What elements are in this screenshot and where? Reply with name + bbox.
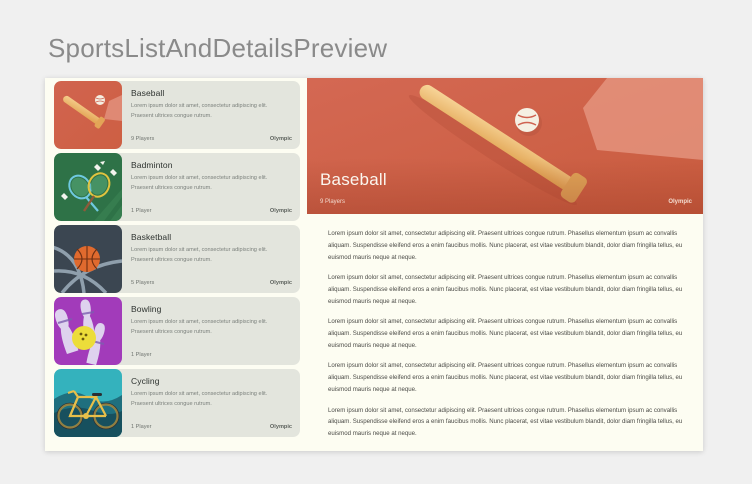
detail-paragraph: Lorem ipsum dolor sit amet, consectetur … <box>328 405 685 441</box>
detail-paragraph: Lorem ipsum dolor sit amet, consectetur … <box>328 272 685 308</box>
detail-badge: Olympic <box>668 199 692 205</box>
list-item-body: Badminton Lorem ipsum dolor sit amet, co… <box>122 153 300 221</box>
sports-preview-panel: Baseball Lorem ipsum dolor sit amet, con… <box>45 78 703 451</box>
detail-players: 9 Players <box>320 199 345 205</box>
detail-paragraph: Lorem ipsum dolor sit amet, consectetur … <box>328 228 685 264</box>
list-item-description: Lorem ipsum dolor sit amet, consectetur … <box>131 245 289 266</box>
list-item[interactable]: Basketball Lorem ipsum dolor sit amet, c… <box>54 225 300 293</box>
detail-title: Baseball <box>320 170 387 190</box>
list-item-footer: 5 Players Olympic <box>131 280 292 286</box>
badminton-rackets-icon <box>54 153 122 221</box>
list-item-players: 1 Player <box>131 208 152 214</box>
page-title: SportsListAndDetailsPreview <box>48 33 387 64</box>
list-item-body: Bowling Lorem ipsum dolor sit amet, cons… <box>122 297 300 365</box>
detail-description: Lorem ipsum dolor sit amet, consectetur … <box>307 214 703 451</box>
list-item-badge: Olympic <box>270 424 292 430</box>
list-item-players: 5 Players <box>131 280 154 286</box>
list-item-footer: 1 Player Olympic <box>131 208 292 214</box>
sport-detail-pane: Baseball 9 Players Olympic Lorem ipsum d… <box>307 78 703 451</box>
list-item-players: 1 Player <box>131 424 152 430</box>
list-item-players: 9 Players <box>131 136 154 142</box>
baseball-bat-and-ball-icon <box>54 81 122 149</box>
list-item[interactable]: Baseball Lorem ipsum dolor sit amet, con… <box>54 81 300 149</box>
detail-paragraph: Lorem ipsum dolor sit amet, consectetur … <box>328 316 685 352</box>
sports-list[interactable]: Baseball Lorem ipsum dolor sit amet, con… <box>45 78 307 451</box>
bowling-ball-and-pins-icon <box>54 297 122 365</box>
list-item-footer: 9 Players Olympic <box>131 136 292 142</box>
list-item-description: Lorem ipsum dolor sit amet, consectetur … <box>131 317 289 338</box>
list-item-body: Cycling Lorem ipsum dolor sit amet, cons… <box>122 369 300 437</box>
list-item-title: Baseball <box>131 88 291 98</box>
list-item-footer: 1 Player <box>131 352 292 358</box>
list-item-badge: Olympic <box>270 208 292 214</box>
list-item-title: Basketball <box>131 232 291 242</box>
list-item[interactable]: Bowling Lorem ipsum dolor sit amet, cons… <box>54 297 300 365</box>
basketball-icon <box>54 225 122 293</box>
bicycle-icon <box>54 369 122 437</box>
list-item-title: Badminton <box>131 160 291 170</box>
list-item-description: Lorem ipsum dolor sit amet, consectetur … <box>131 389 289 410</box>
list-item-description: Lorem ipsum dolor sit amet, consectetur … <box>131 173 289 194</box>
list-item-players: 1 Player <box>131 352 152 358</box>
list-item-badge: Olympic <box>270 136 292 142</box>
detail-hero: Baseball 9 Players Olympic <box>307 78 703 214</box>
list-item-title: Cycling <box>131 376 291 386</box>
list-item-title: Bowling <box>131 304 291 314</box>
list-item-footer: 1 Player Olympic <box>131 424 292 430</box>
list-item[interactable]: Badminton Lorem ipsum dolor sit amet, co… <box>54 153 300 221</box>
list-item-body: Basketball Lorem ipsum dolor sit amet, c… <box>122 225 300 293</box>
list-item[interactable]: Cycling Lorem ipsum dolor sit amet, cons… <box>54 369 300 437</box>
list-item-body: Baseball Lorem ipsum dolor sit amet, con… <box>122 81 300 149</box>
list-item-badge: Olympic <box>270 280 292 286</box>
list-item-description: Lorem ipsum dolor sit amet, consectetur … <box>131 101 289 122</box>
detail-paragraph: Lorem ipsum dolor sit amet, consectetur … <box>328 360 685 396</box>
